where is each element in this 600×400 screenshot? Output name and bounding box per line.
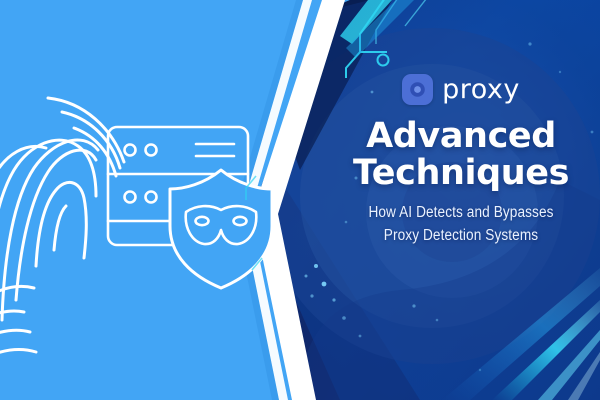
brand-name: proxy (442, 76, 520, 103)
headline-line-2: Techniques (330, 155, 592, 192)
headline-group: proxy Advanced Techniques How AI Detects… (330, 72, 592, 248)
subtitle-line-1: How AI Detects and Bypasses (346, 202, 577, 225)
page-title: Advanced Techniques (330, 118, 592, 192)
brand-logo: proxy (330, 72, 592, 106)
promo-banner: proxy Advanced Techniques How AI Detects… (0, 0, 600, 400)
subtitle-line-2: Proxy Detection Systems (346, 225, 577, 248)
proxy-ring-logo-icon (402, 74, 433, 105)
headline-line-1: Advanced (330, 118, 592, 155)
subtitle: How AI Detects and Bypasses Proxy Detect… (346, 202, 577, 248)
